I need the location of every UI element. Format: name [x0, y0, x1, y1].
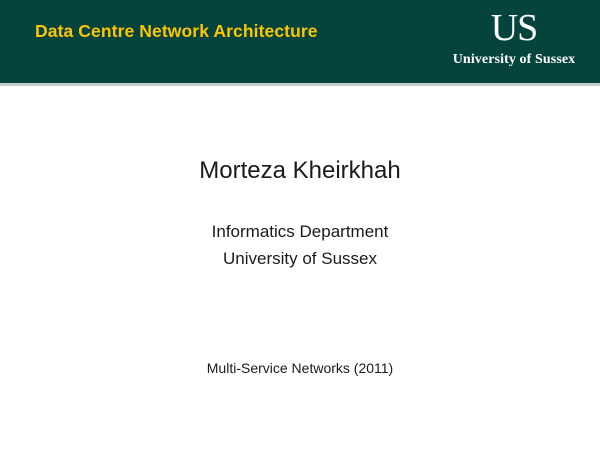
- affiliation-line: University of Sussex: [0, 245, 600, 272]
- university-wordmark: University of Sussex: [440, 52, 588, 68]
- university-logo: US University of Sussex: [440, 8, 588, 74]
- affiliation-line: Informatics Department: [0, 218, 600, 245]
- affiliation-block: Informatics Department University of Sus…: [0, 218, 600, 272]
- presentation-slide: Data Centre Network Architecture US Univ…: [0, 0, 600, 450]
- presenter-name: Morteza Kheirkhah: [0, 157, 600, 185]
- page-title: Data Centre Network Architecture: [35, 21, 318, 42]
- event-name: Multi-Service Networks (2011): [0, 359, 600, 377]
- slide-body: Morteza Kheirkhah Informatics Department…: [0, 86, 600, 450]
- us-monogram-icon: US: [440, 8, 588, 48]
